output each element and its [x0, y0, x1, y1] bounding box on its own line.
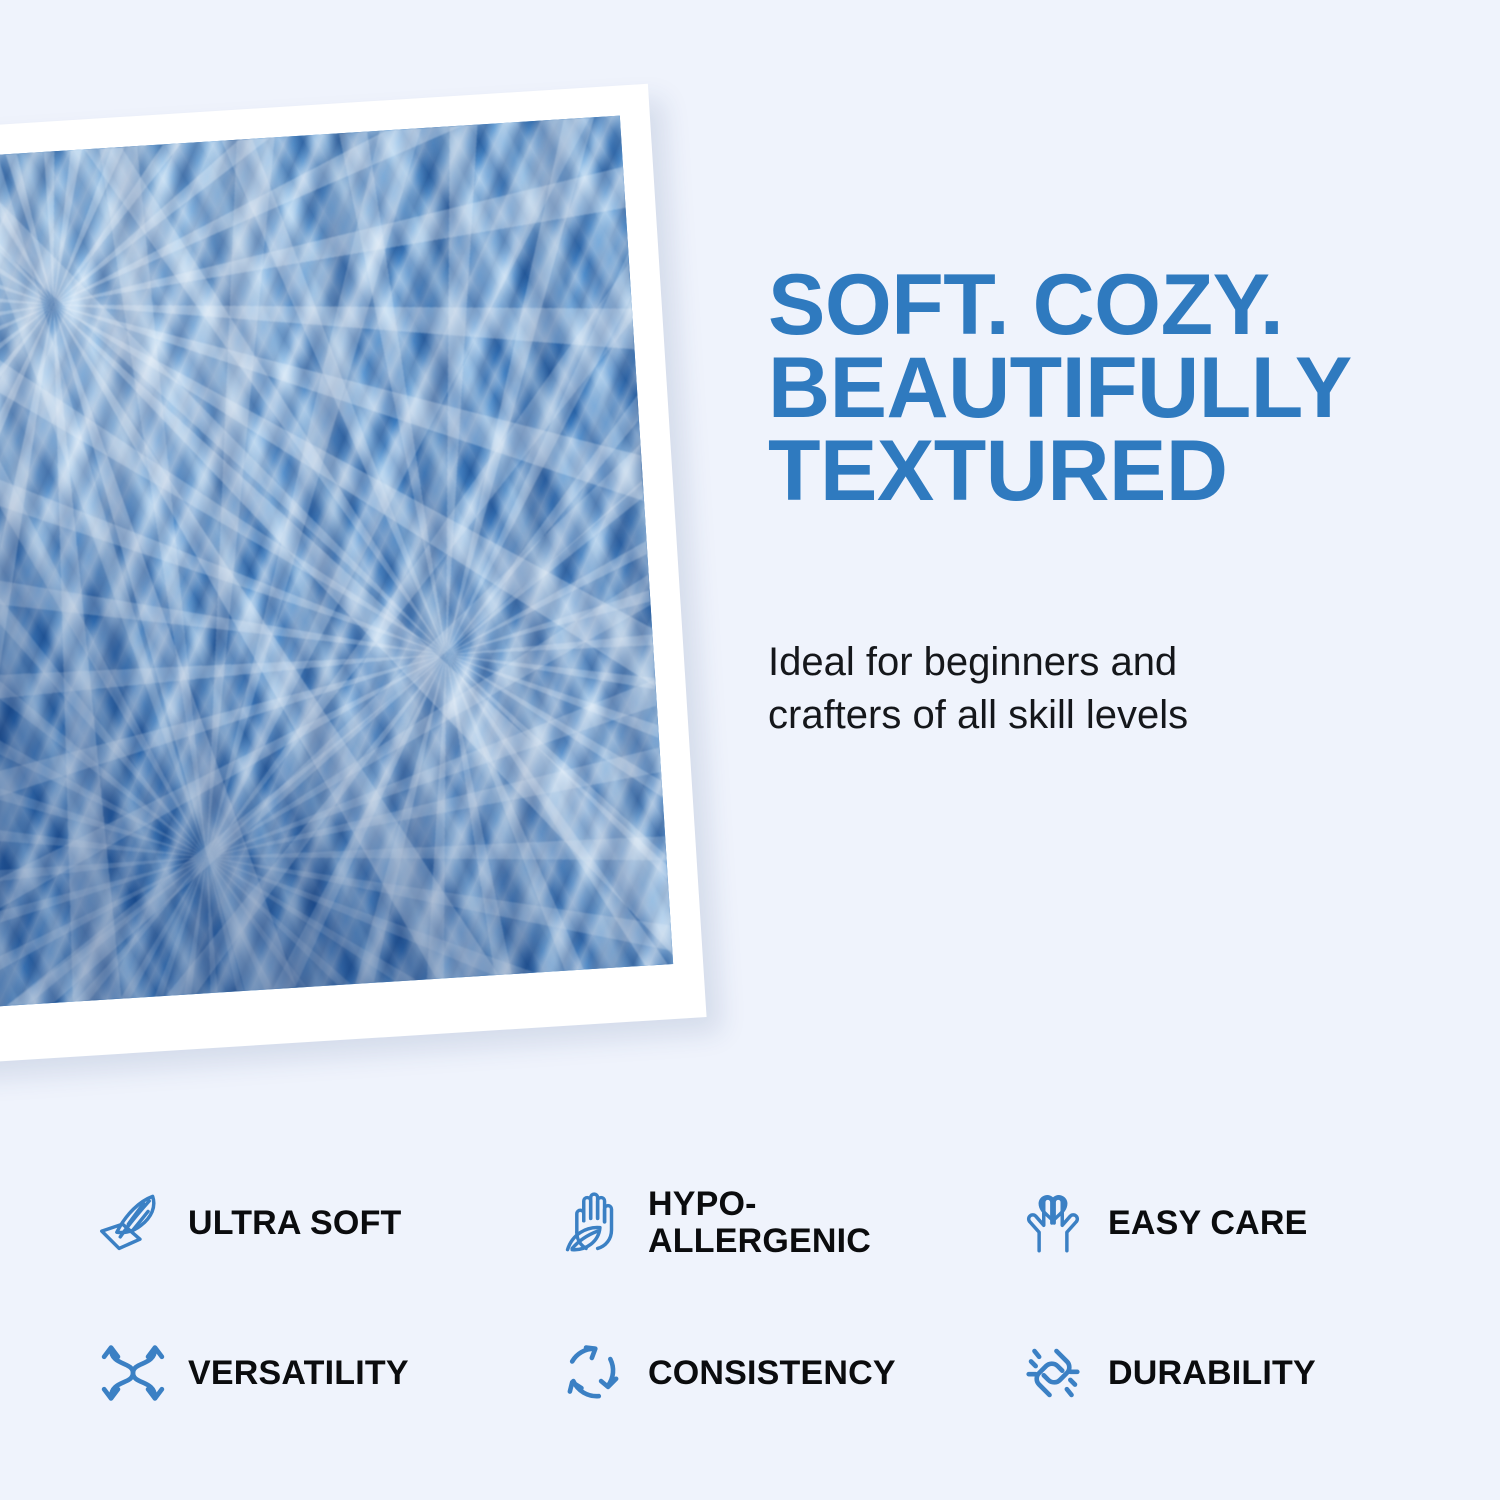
- feature-label-line: CONSISTENCY: [648, 1355, 896, 1392]
- product-photo-frame: [0, 84, 707, 1067]
- subtitle-line-2: crafters of all skill levels: [768, 689, 1408, 742]
- feature-label-line: ALLERGENIC: [648, 1223, 871, 1260]
- feature-grid: ULTRA SOFT HYPO- ALLERGENIC: [96, 1148, 1426, 1448]
- feature-label: HYPO- ALLERGENIC: [648, 1186, 871, 1259]
- feature-label: VERSATILITY: [188, 1355, 409, 1392]
- feature-durability: DURABILITY: [1016, 1336, 1426, 1410]
- feature-ultra-soft: ULTRA SOFT: [96, 1186, 556, 1260]
- feature-label: EASY CARE: [1108, 1205, 1308, 1242]
- yarn-texture-shading: [0, 116, 673, 1011]
- four-way-arrows-icon: [96, 1336, 170, 1410]
- feature-label-line: HYPO-: [648, 1186, 871, 1223]
- feature-versatility: VERSATILITY: [96, 1336, 556, 1410]
- feature-label-line: DURABILITY: [1108, 1355, 1316, 1392]
- headline-line-3: TEXTURED: [768, 430, 1468, 513]
- circular-arrows-icon: [556, 1336, 630, 1410]
- blue-yarn-closeup-photo: [0, 116, 673, 1011]
- feature-easy-care: EASY CARE: [1016, 1186, 1426, 1260]
- feature-consistency: CONSISTENCY: [556, 1336, 1016, 1410]
- subtitle-line-1: Ideal for beginners and: [768, 636, 1408, 689]
- feature-label-line: VERSATILITY: [188, 1355, 409, 1392]
- feature-label: CONSISTENCY: [648, 1355, 896, 1392]
- hand-with-leaf-icon: [556, 1186, 630, 1260]
- feature-label-line: ULTRA SOFT: [188, 1205, 402, 1242]
- page-headline: SOFT. COZY. BEAUTIFULLY TEXTURED: [768, 264, 1468, 514]
- feature-label: ULTRA SOFT: [188, 1205, 402, 1242]
- feature-label: DURABILITY: [1108, 1355, 1316, 1392]
- feather-on-fabric-icon: [96, 1186, 170, 1260]
- headline-line-1: SOFT. COZY.: [768, 264, 1468, 347]
- feature-hypo-allergenic: HYPO- ALLERGENIC: [556, 1186, 1016, 1260]
- hands-holding-heart-icon: [1016, 1186, 1090, 1260]
- chain-link-icon: [1016, 1336, 1090, 1410]
- feature-label-line: EASY CARE: [1108, 1205, 1308, 1242]
- headline-line-2: BEAUTIFULLY: [768, 347, 1468, 430]
- page-subtitle: Ideal for beginners and crafters of all …: [768, 636, 1408, 742]
